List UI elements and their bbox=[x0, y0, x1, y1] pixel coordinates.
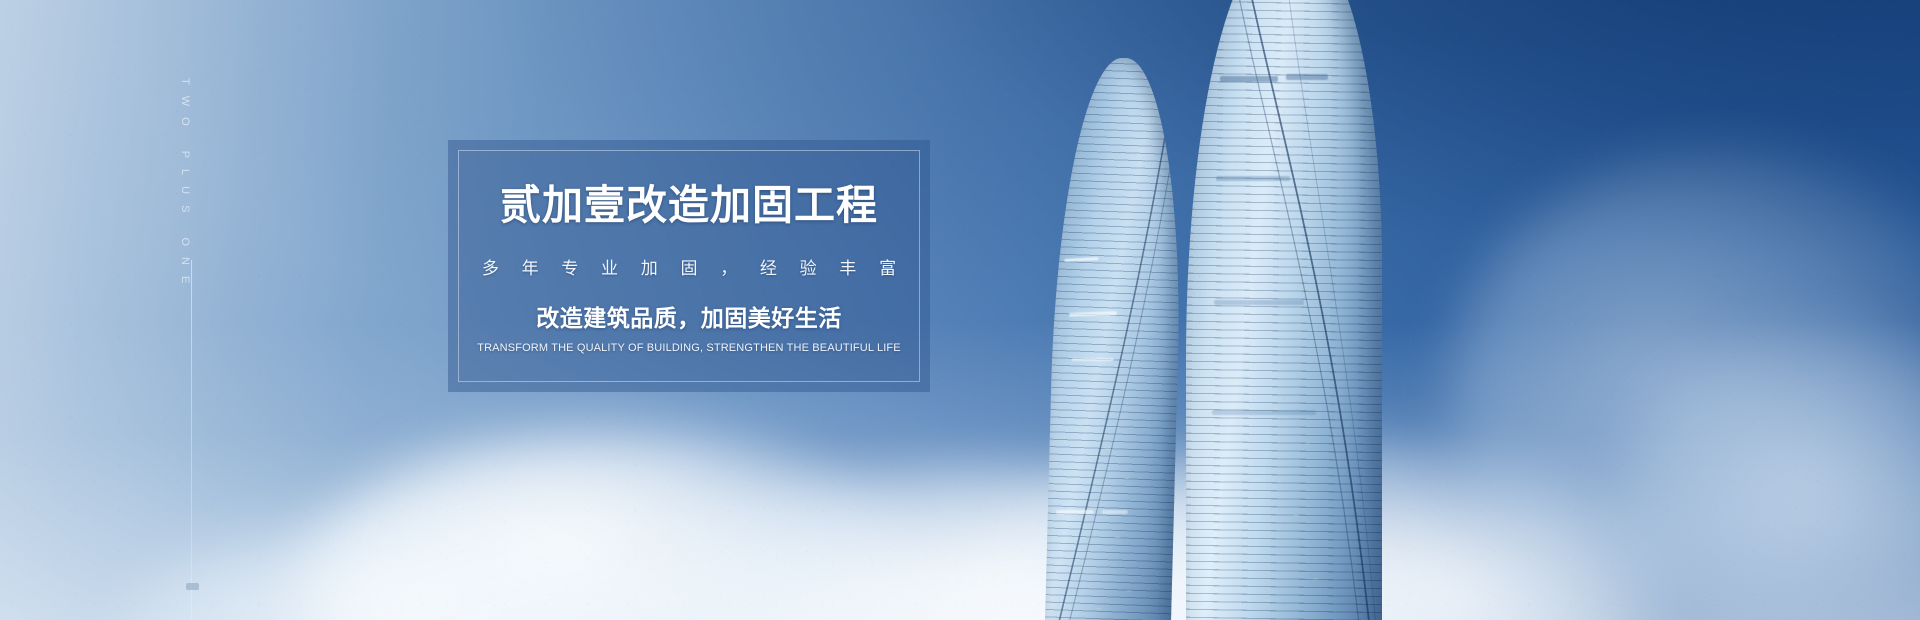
sky-bottom-haze-overlay bbox=[0, 0, 1920, 620]
brand-vertical-rule bbox=[191, 260, 192, 620]
window-band bbox=[1212, 410, 1316, 415]
glass-highlight bbox=[1102, 510, 1128, 514]
skyscraper-right bbox=[1186, 0, 1382, 620]
hero-text-panel: 贰加壹改造加固工程 多 年 专 业 加 固 ， 经 验 丰 富 改造建筑品质，加… bbox=[448, 140, 930, 392]
hero-subtitle: 多 年 专 业 加 固 ， 经 验 丰 富 bbox=[473, 260, 905, 277]
skyscraper-left bbox=[1044, 58, 1186, 620]
hero-english-tagline: TRANSFORM THE QUALITY OF BUILDING, STREN… bbox=[477, 343, 901, 354]
window-band bbox=[1214, 300, 1304, 305]
window-band bbox=[1286, 74, 1328, 80]
tower-curved-mullion bbox=[1186, 0, 1382, 620]
window-band bbox=[1220, 76, 1278, 82]
hero-headline: 贰加壹改造加固工程 bbox=[500, 185, 878, 226]
corner-mark-icon bbox=[186, 583, 199, 590]
banner-hero: TWO PLUS ONE 贰加壹改造加固工程 多 年 专 业 加 固 ， 经 验… bbox=[0, 0, 1920, 620]
glass-highlight bbox=[1072, 358, 1114, 361]
window-band bbox=[1216, 176, 1290, 181]
panel-content: 贰加壹改造加固工程 多 年 专 业 加 固 ， 经 验 丰 富 改造建筑品质，加… bbox=[448, 140, 930, 392]
brand-vertical-text: TWO PLUS ONE bbox=[179, 78, 191, 294]
glass-highlight bbox=[1056, 510, 1094, 514]
skyscraper-group bbox=[1040, 0, 1460, 620]
hero-tagline: 改造建筑品质，加固美好生活 bbox=[536, 307, 842, 330]
tower-curved-mullion bbox=[1044, 58, 1186, 620]
